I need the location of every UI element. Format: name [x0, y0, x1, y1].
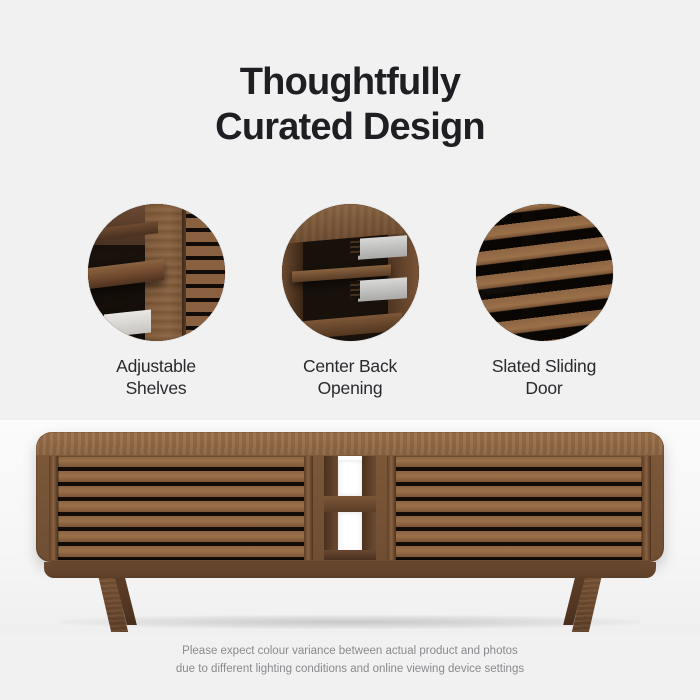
stand-cabinet — [36, 432, 664, 562]
floor-shadow — [60, 615, 640, 629]
product-photo — [0, 420, 700, 635]
feature-image-slated-sliding-door — [476, 204, 613, 341]
feature-image-center-back-opening — [282, 204, 419, 341]
feature-image-adjustable-shelves — [88, 204, 225, 341]
feature-adjustable-shelves: Adjustable Shelves — [88, 204, 225, 400]
marketing-image: Thoughtfully Curated Design Adjustable S… — [0, 0, 700, 700]
feature-caption: Slated Sliding Door — [476, 355, 613, 400]
page-title: Thoughtfully Curated Design — [0, 60, 700, 150]
feature-slated-sliding-door: Slated Sliding Door — [476, 204, 613, 400]
slatted-door-photo-illustration — [476, 204, 613, 341]
back-opening-photo-illustration — [282, 204, 419, 341]
tv-stand-illustration — [0, 420, 700, 635]
feature-center-back-opening: Center Back Opening — [282, 204, 419, 400]
feature-row: Adjustable Shelves Center Back Openi — [0, 204, 700, 400]
stand-base-rail — [44, 562, 656, 578]
colour-variance-disclaimer: Please expect colour variance between ac… — [0, 643, 700, 679]
feature-caption: Center Back Opening — [282, 355, 419, 400]
shelf-photo-illustration — [88, 204, 225, 341]
cabinet-frame-outline — [36, 432, 664, 562]
feature-caption: Adjustable Shelves — [88, 355, 225, 400]
